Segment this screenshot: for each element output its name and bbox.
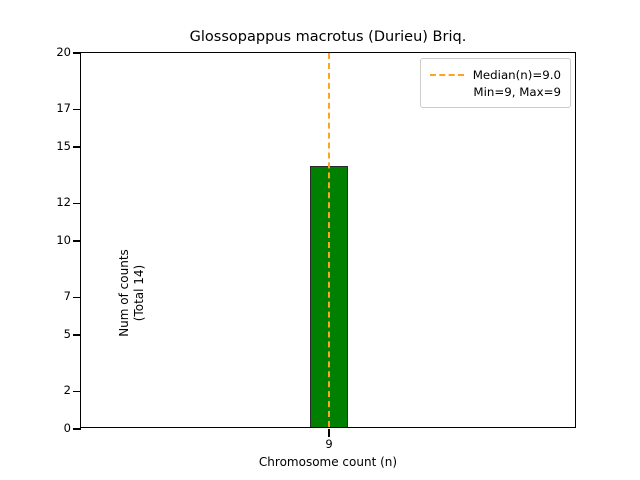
legend-label: Min=9, Max=9 xyxy=(473,85,561,99)
y-axis-tick-label: 20 xyxy=(37,47,71,59)
y-axis-tick xyxy=(73,52,81,53)
legend-dashed-line-icon xyxy=(430,69,464,81)
plot-inner: Median(n)=9.0Min=9, Max=9 xyxy=(81,53,575,427)
y-axis-tick xyxy=(73,391,81,392)
legend-entry: Median(n)=9.0 xyxy=(430,66,561,83)
legend-label: Median(n)=9.0 xyxy=(473,68,561,82)
y-axis-tick-label: 2 xyxy=(37,385,71,397)
chart-title: Glossopappus macrotus (Durieu) Briq. xyxy=(80,28,576,46)
y-axis-tick-label: 5 xyxy=(37,329,71,341)
y-axis-tick xyxy=(73,109,81,110)
y-axis-tick xyxy=(73,240,81,241)
y-axis-label: Num of counts (Total 14) xyxy=(117,193,147,393)
y-axis-tick xyxy=(73,334,81,335)
y-axis-tick-label: 15 xyxy=(37,141,71,153)
x-axis-tick xyxy=(328,429,329,437)
y-axis-tick-label: 0 xyxy=(37,423,71,435)
median-line xyxy=(328,53,330,427)
legend-blank-icon xyxy=(430,86,464,98)
y-axis-tick xyxy=(73,146,81,147)
y-axis-tick xyxy=(73,428,81,429)
legend: Median(n)=9.0Min=9, Max=9 xyxy=(420,58,571,108)
legend-entry: Min=9, Max=9 xyxy=(430,83,561,100)
x-axis-tick-label: 9 xyxy=(299,439,359,451)
y-axis-tick-label: 10 xyxy=(37,235,71,247)
x-axis-label: Chromosome count (n) xyxy=(80,455,576,469)
plot-area: Median(n)=9.0Min=9, Max=9 Num of counts … xyxy=(80,52,576,428)
chart-figure: Glossopappus macrotus (Durieu) Briq. Med… xyxy=(0,0,640,480)
y-axis-tick-label: 7 xyxy=(37,291,71,303)
y-axis-tick xyxy=(73,203,81,204)
y-axis-tick-label: 12 xyxy=(37,197,71,209)
y-axis-tick xyxy=(73,297,81,298)
y-axis-tick-label: 17 xyxy=(37,103,71,115)
